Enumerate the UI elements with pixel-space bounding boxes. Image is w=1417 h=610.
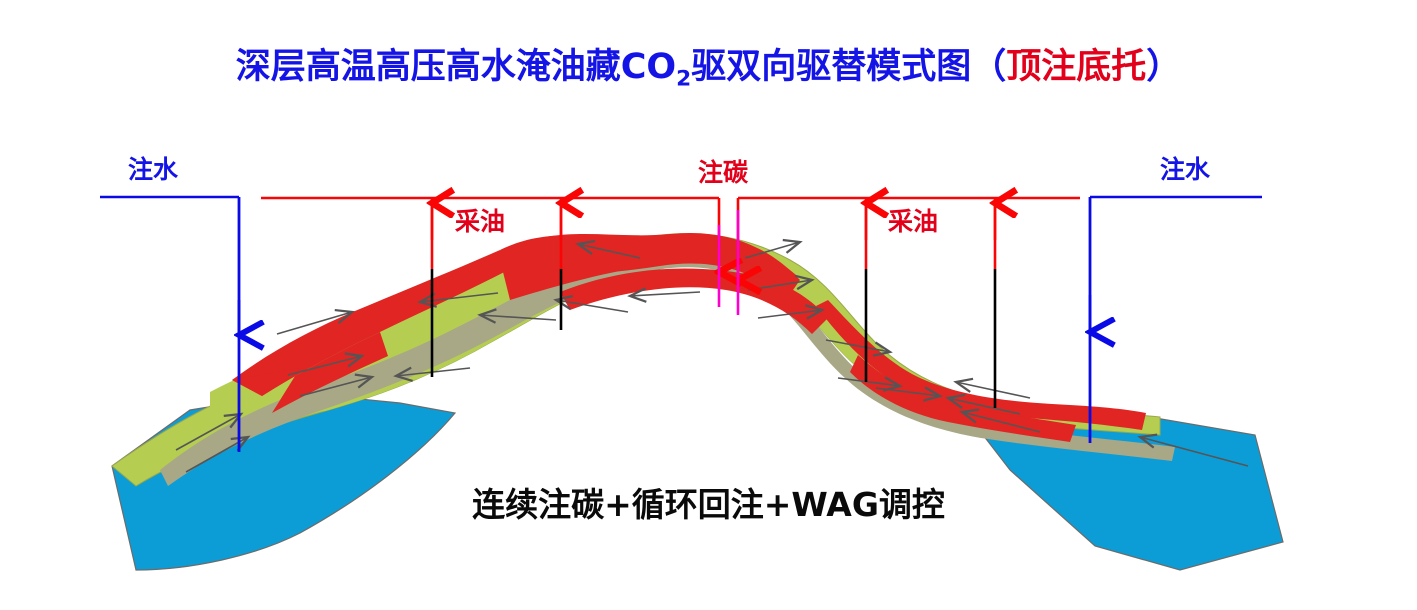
label-water-injection-left: 注水 xyxy=(128,157,178,182)
title-emphasis: 顶注底托 xyxy=(1006,47,1146,87)
title-subscript: 2 xyxy=(676,67,691,92)
title-paren-open: （ xyxy=(971,47,1006,87)
label-oil-production-left: 采油 xyxy=(455,209,505,234)
title-paren-close: ） xyxy=(1146,47,1181,87)
page-title: 深层高温高压高水淹油藏CO2驱双向驱替模式图（顶注底托） xyxy=(0,38,1417,92)
label-oil-production-right: 采油 xyxy=(888,209,938,234)
label-water-injection-right: 注水 xyxy=(1160,157,1210,182)
diagram-caption: 连续注碳+循环回注+WAG调控 xyxy=(0,478,1417,526)
diagram-canvas: 深层高温高压高水淹油藏CO2驱双向驱替模式图（顶注底托） 注水 注水 注碳 采油… xyxy=(0,0,1417,610)
title-main-after: 驱双向驱替模式图 xyxy=(691,47,971,87)
title-main-before: 深层高温高压高水淹油藏CO xyxy=(236,47,676,87)
label-carbon-injection: 注碳 xyxy=(698,160,748,185)
flow-arrow xyxy=(630,292,700,296)
